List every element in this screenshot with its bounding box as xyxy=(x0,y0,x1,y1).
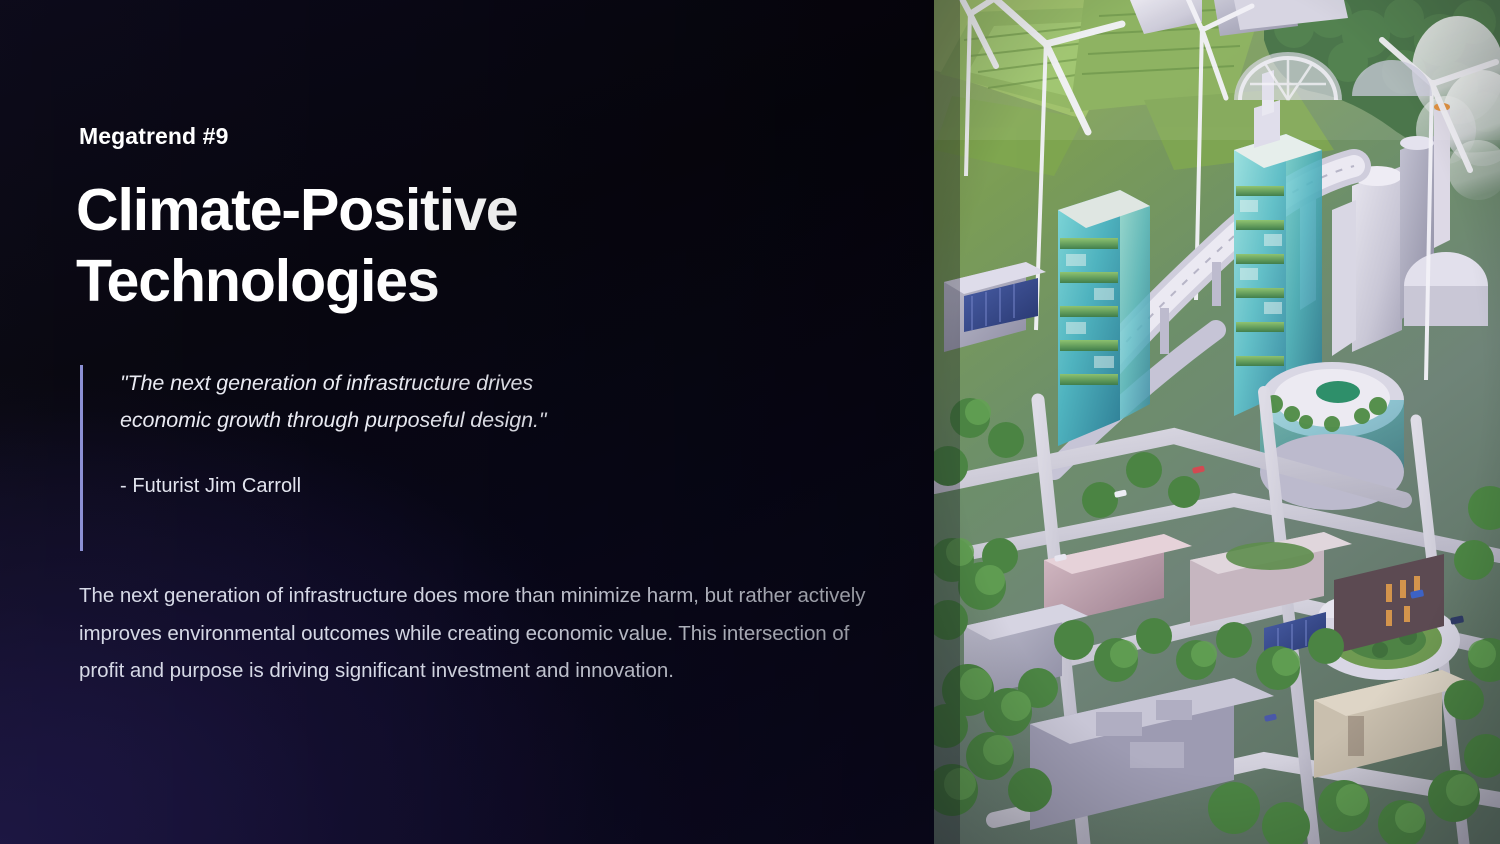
megatrend-eyebrow: Megatrend #9 xyxy=(79,123,228,150)
quote-block: "The next generation of infrastructure d… xyxy=(80,365,720,551)
eco-city-image-panel xyxy=(934,0,1500,844)
quote-line-2: economic growth through purposeful desig… xyxy=(120,402,720,439)
text-panel: Megatrend #9 Climate-Positive Technologi… xyxy=(0,0,934,844)
quote-text: "The next generation of infrastructure d… xyxy=(120,365,720,438)
body-paragraph: The next generation of infrastructure do… xyxy=(79,577,869,690)
quote-line-1: "The next generation of infrastructure d… xyxy=(120,365,720,402)
quote-attribution: - Futurist Jim Carroll xyxy=(120,475,720,498)
eco-city-illustration xyxy=(934,0,1500,844)
slide-root: Megatrend #9 Climate-Positive Technologi… xyxy=(0,0,1500,844)
text-content: Megatrend #9 Climate-Positive Technologi… xyxy=(79,0,869,844)
page-title: Climate-Positive Technologies xyxy=(76,175,776,317)
